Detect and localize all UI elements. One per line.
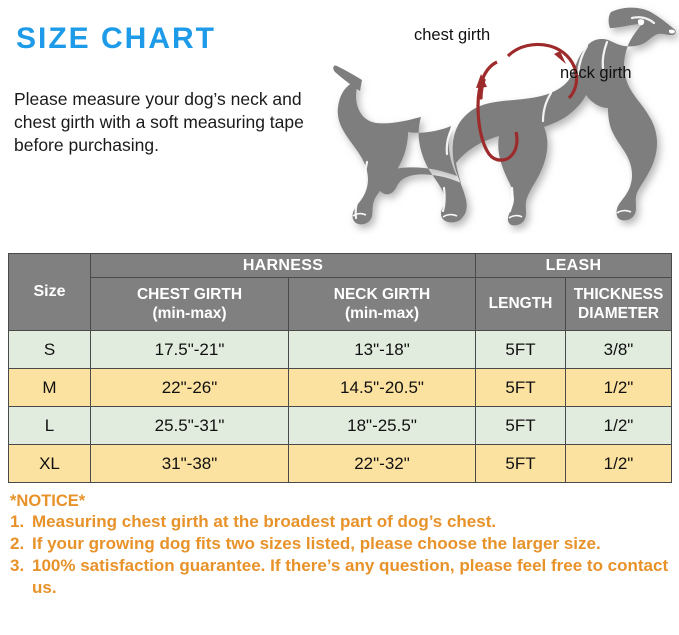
cell-chest: 31"-38" xyxy=(91,445,289,483)
neck-girth-label: neck girth xyxy=(560,64,632,83)
cell-chest: 22"-26" xyxy=(91,369,289,407)
header-thickness-line2: DIAMETER xyxy=(566,304,671,323)
table-row: M 22"-26" 14.5"-20.5" 5FT 1/2" xyxy=(9,369,672,407)
table-header-sub-row: CHEST GIRTH (min-max) NECK GIRTH (min-ma… xyxy=(9,278,672,331)
cell-neck: 18"-25.5" xyxy=(289,407,476,445)
cell-size: L xyxy=(9,407,91,445)
dog-silhouette-icon xyxy=(332,2,679,234)
header-leash: LEASH xyxy=(476,254,672,278)
header-neck-girth-line1: NECK GIRTH xyxy=(289,285,475,304)
notice-item-number: 1. xyxy=(10,511,32,533)
notice-item-number: 2. xyxy=(10,533,32,555)
table-row: XL 31"-38" 22"-32" 5FT 1/2" xyxy=(9,445,672,483)
notice-item-text: 100% satisfaction guarantee. If there’s … xyxy=(32,555,675,599)
header-chest-girth-line1: CHEST GIRTH xyxy=(91,285,288,304)
table-body: S 17.5"-21" 13"-18" 5FT 3/8" M 22"-26" 1… xyxy=(9,331,672,483)
notice-list: 1. Measuring chest girth at the broadest… xyxy=(10,511,675,598)
header-size: Size xyxy=(9,254,91,331)
header-chest-girth: CHEST GIRTH (min-max) xyxy=(91,278,289,331)
cell-neck: 14.5"-20.5" xyxy=(289,369,476,407)
notice-item: 3. 100% satisfaction guarantee. If there… xyxy=(10,555,675,599)
notice-heading: *NOTICE* xyxy=(10,492,675,511)
header-section: SIZE CHART Please measure your dog’s nec… xyxy=(0,0,679,240)
table-row: S 17.5"-21" 13"-18" 5FT 3/8" xyxy=(9,331,672,369)
table-row: L 25.5"-31" 18"-25.5" 5FT 1/2" xyxy=(9,407,672,445)
header-neck-girth-line2: (min-max) xyxy=(289,304,475,323)
cell-size: S xyxy=(9,331,91,369)
cell-neck: 13"-18" xyxy=(289,331,476,369)
table-header: Size HARNESS LEASH CHEST GIRTH (min-max)… xyxy=(9,254,672,331)
cell-thickness: 1/2" xyxy=(566,445,672,483)
header-thickness-line1: THICKNESS xyxy=(566,285,671,304)
header-neck-girth: NECK GIRTH (min-max) xyxy=(289,278,476,331)
notice-item: 2. If your growing dog fits two sizes li… xyxy=(10,533,675,555)
notice-item-number: 3. xyxy=(10,555,32,577)
header-harness: HARNESS xyxy=(91,254,476,278)
cell-chest: 25.5"-31" xyxy=(91,407,289,445)
notice-section: *NOTICE* 1. Measuring chest girth at the… xyxy=(10,492,675,598)
cell-chest: 17.5"-21" xyxy=(91,331,289,369)
dog-illustration: chest girth neck girth xyxy=(332,2,679,234)
cell-length: 5FT xyxy=(476,445,566,483)
size-chart-table: Size HARNESS LEASH CHEST GIRTH (min-max)… xyxy=(8,253,672,483)
intro-text: Please measure your dog’s neck and chest… xyxy=(14,88,314,157)
notice-item: 1. Measuring chest girth at the broadest… xyxy=(10,511,675,533)
cell-thickness: 1/2" xyxy=(566,369,672,407)
notice-item-text: If your growing dog fits two sizes liste… xyxy=(32,533,675,555)
cell-length: 5FT xyxy=(476,331,566,369)
header-thickness-diameter: THICKNESS DIAMETER xyxy=(566,278,672,331)
cell-thickness: 1/2" xyxy=(566,407,672,445)
notice-item-text: Measuring chest girth at the broadest pa… xyxy=(32,511,675,533)
table-header-group-row: Size HARNESS LEASH xyxy=(9,254,672,278)
cell-size: XL xyxy=(9,445,91,483)
header-chest-girth-line2: (min-max) xyxy=(91,304,288,323)
cell-size: M xyxy=(9,369,91,407)
chest-girth-label: chest girth xyxy=(414,26,490,45)
header-length: LENGTH xyxy=(476,278,566,331)
cell-length: 5FT xyxy=(476,369,566,407)
cell-neck: 22"-32" xyxy=(289,445,476,483)
cell-length: 5FT xyxy=(476,407,566,445)
cell-thickness: 3/8" xyxy=(566,331,672,369)
page-title: SIZE CHART xyxy=(16,22,216,56)
